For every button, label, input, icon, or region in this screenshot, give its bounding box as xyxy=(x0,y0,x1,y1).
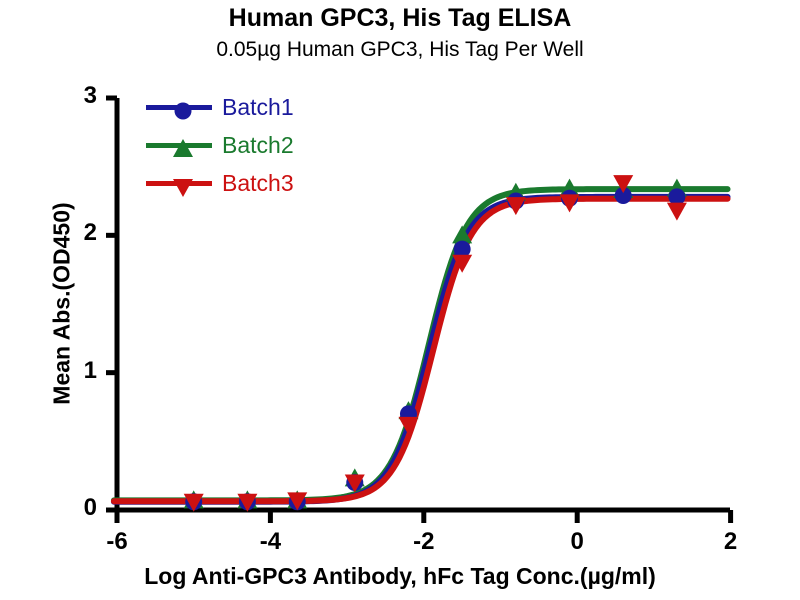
legend-marker-triangle-down-icon xyxy=(146,170,212,196)
y-tick-label: 2 xyxy=(57,219,97,247)
legend-item-batch3[interactable]: Batch3 xyxy=(146,164,294,202)
legend-point-icon xyxy=(170,136,196,162)
y-tick-label: 1 xyxy=(57,357,97,385)
data-series xyxy=(114,175,728,512)
series-curve-batch1 xyxy=(114,197,728,502)
legend-label: Batch2 xyxy=(222,134,294,157)
chart-figure: Human GPC3, His Tag ELISA 0.05µg Human G… xyxy=(0,0,800,600)
y-axis-title: Mean Abs.(OD450) xyxy=(49,154,76,454)
x-axis-title: Log Anti-GPC3 Antibody, hFc Tag Conc.(µg… xyxy=(0,563,800,590)
legend-label: Batch3 xyxy=(222,172,294,195)
legend-point-icon xyxy=(170,174,196,200)
legend-item-batch2[interactable]: Batch2 xyxy=(146,126,294,164)
y-tick-label: 0 xyxy=(57,494,97,522)
x-tick-label: -4 xyxy=(240,528,300,556)
x-tick-label: -2 xyxy=(394,528,454,556)
legend-point-icon xyxy=(170,98,196,124)
series-curve-batch3 xyxy=(114,199,728,502)
x-tick-label: -6 xyxy=(87,528,147,556)
legend-marker-triangle-up-icon xyxy=(146,132,212,158)
x-tick-label: 2 xyxy=(701,528,761,556)
legend-item-batch1[interactable]: Batch1 xyxy=(146,88,294,126)
chart-legend: Batch1Batch2Batch3 xyxy=(146,88,294,202)
x-tick-label: 0 xyxy=(547,528,607,556)
legend-marker-circle-icon xyxy=(146,94,212,120)
y-tick-label: 3 xyxy=(57,82,97,110)
plot-area xyxy=(0,0,800,600)
legend-label: Batch1 xyxy=(222,96,294,119)
series-curve-batch2 xyxy=(114,189,728,500)
